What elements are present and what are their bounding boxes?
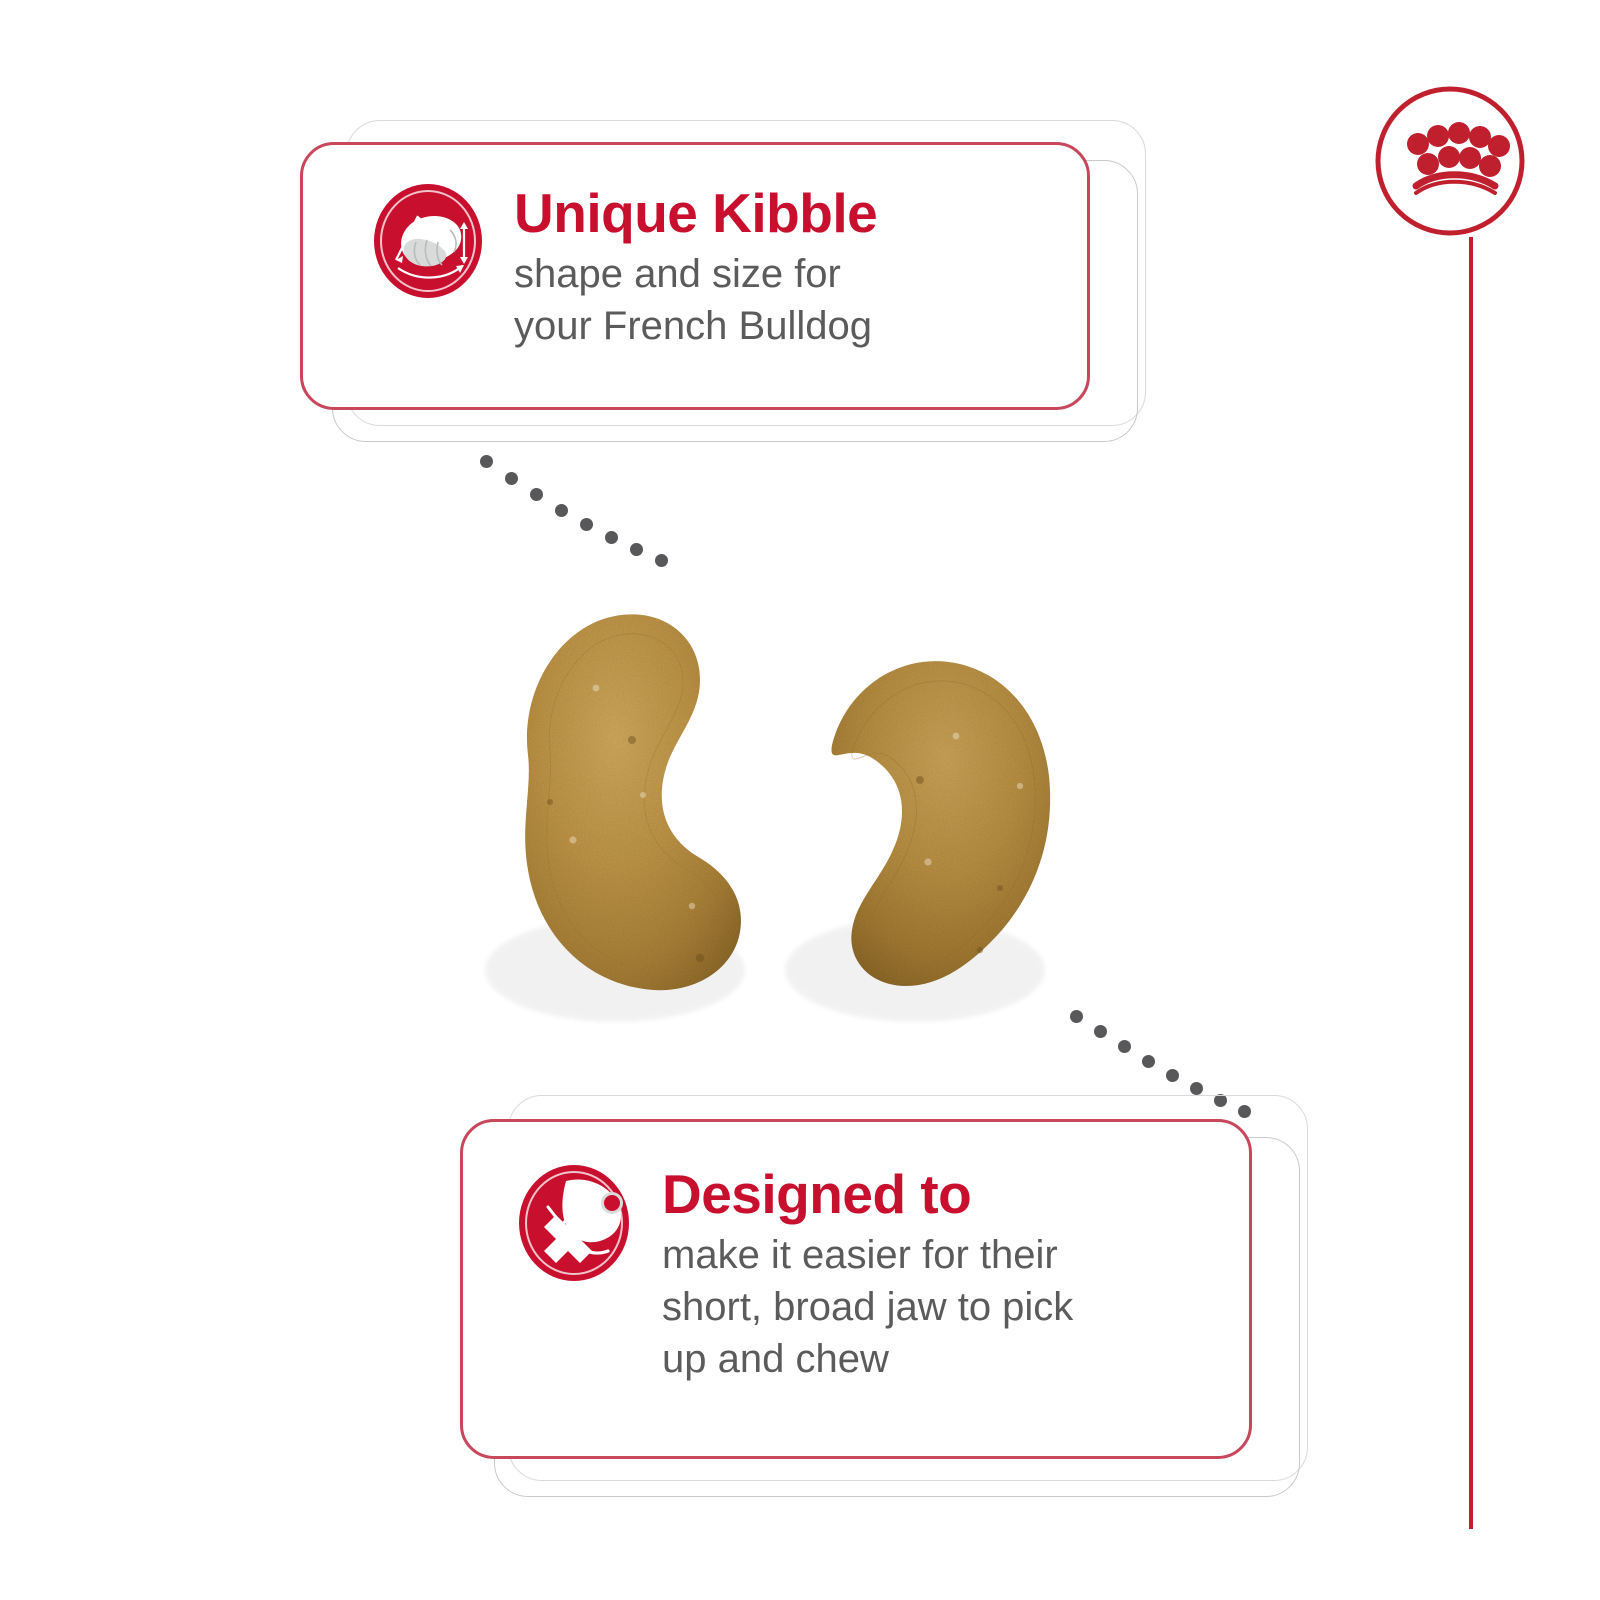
- brand-vertical-line: [1469, 237, 1473, 1529]
- card-body-line: your French Bulldog: [514, 300, 877, 352]
- callout-card-designed-to: Designed to make it easier for their sho…: [460, 1095, 1320, 1495]
- connector-dot: [1070, 1010, 1083, 1023]
- connector-dot: [1118, 1040, 1131, 1053]
- connector-dot: [1142, 1055, 1155, 1068]
- royal-canin-logo: [1375, 85, 1530, 240]
- card-text-block: Unique Kibble shape and size for your Fr…: [514, 182, 877, 352]
- connector-dot: [555, 504, 568, 517]
- connector-dot: [580, 518, 593, 531]
- card-body-line: make it easier for their: [662, 1229, 1073, 1281]
- connector-dot: [505, 472, 518, 485]
- connector-dot: [480, 455, 493, 468]
- card-body-line: up and chew: [662, 1333, 1073, 1385]
- connector-dot: [1166, 1069, 1179, 1082]
- connector-dot: [1190, 1082, 1203, 1095]
- card-content: Designed to make it easier for their sho…: [516, 1163, 1236, 1385]
- card-title: Unique Kibble: [514, 184, 877, 242]
- card-body-line: short, broad jaw to pick: [662, 1281, 1073, 1333]
- french-bulldog-kibble-photo: [400, 540, 1120, 1080]
- card-content: Unique Kibble shape and size for your Fr…: [372, 182, 1052, 352]
- dog-jaw-kibble-icon: [516, 1163, 632, 1283]
- card-body-line: shape and size for: [514, 248, 877, 300]
- kibble-measure-icon: [372, 182, 484, 300]
- card-title: Designed to: [662, 1165, 1073, 1223]
- product-feature-panel: Unique Kibble shape and size for your Fr…: [0, 0, 1600, 1600]
- connector-dot: [1094, 1025, 1107, 1038]
- connector-dot: [530, 488, 543, 501]
- card-body: shape and size for your French Bulldog: [514, 248, 877, 352]
- card-body: make it easier for their short, broad ja…: [662, 1229, 1073, 1385]
- card-text-block: Designed to make it easier for their sho…: [662, 1163, 1073, 1385]
- callout-card-unique-kibble: Unique Kibble shape and size for your Fr…: [300, 120, 1160, 440]
